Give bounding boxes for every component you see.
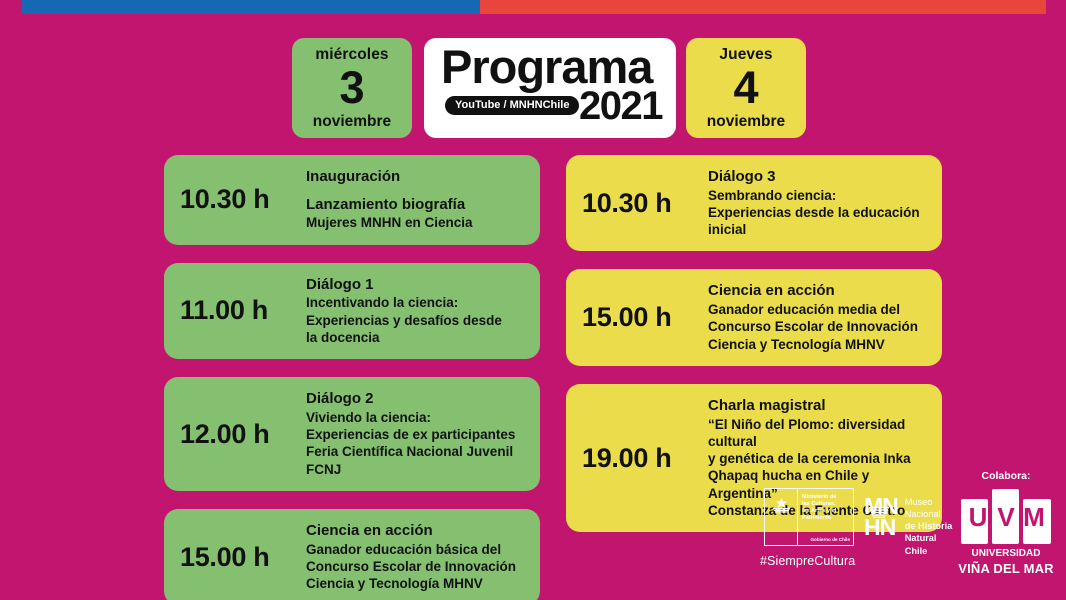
ministry-of-cultures-logo: Ministerio de las Culturas, las Artes y … [764, 488, 854, 546]
schedule-card: 11.00 hDiálogo 1Incentivando la ciencia:… [164, 263, 540, 359]
ministry-line-2: las Culturas, [802, 501, 850, 508]
schedule-card-time: 15.00 h [180, 544, 306, 571]
schedule-card-body: Ciencia en acciónGanador educación básic… [306, 522, 526, 592]
government-of-chile-label: Gobierno de Chile [810, 537, 850, 542]
mnhn-monogram-line-2: HN [864, 517, 898, 538]
mnhn-monogram: MN HN [864, 496, 898, 538]
uvm-block-3 [1023, 499, 1051, 544]
title-year: 2021 [579, 86, 662, 126]
uvm-block-1 [961, 499, 988, 544]
uvm-name-line-2: VIÑA DEL MAR [956, 561, 1056, 577]
schedule-card-time: 15.00 h [582, 304, 708, 331]
schedule-card-body: Ciencia en acciónGanador educación media… [708, 282, 928, 352]
schedule-card-line: Viviendo la ciencia: [306, 409, 526, 426]
schedule-card-body: Diálogo 2Viviendo la ciencia:Experiencia… [306, 390, 526, 478]
schedule-card-heading: Ciencia en acción [306, 522, 526, 540]
schedule-card-line: la docencia [306, 329, 526, 346]
mnhn-word-2: Nacional [905, 508, 952, 520]
footer-logos: Ministerio de las Culturas, las Artes y … [756, 470, 1056, 585]
schedule-card-line: Ciencia y Tecnología MHNV [708, 336, 928, 353]
schedule-card-line: Mujeres MNHN en Ciencia [306, 214, 526, 231]
ministry-line-4: Patrimonio [802, 515, 850, 522]
schedule-card-time: 10.30 h [582, 190, 708, 217]
schedule-card-time: 10.30 h [180, 186, 306, 213]
uvm-university-name: UNIVERSIDAD VIÑA DEL MAR [956, 548, 1056, 577]
schedule-card: 15.00 hCiencia en acciónGanador educació… [566, 269, 942, 365]
schedule-card-line: Sembrando ciencia: [708, 187, 928, 204]
schedule-card-heading: Diálogo 2 [306, 390, 526, 408]
schedule-card: 15.00 hCiencia en acciónGanador educació… [164, 509, 540, 600]
mnhn-word-1: Museo [905, 496, 952, 508]
page-title: Programa [441, 43, 652, 90]
hashtag-siemprecultura: #SiempreCultura [760, 554, 855, 568]
schedule-card-body: Diálogo 3Sembrando ciencia:Experiencias … [708, 168, 928, 238]
schedule-card-line: Ganador educación básica del [306, 541, 526, 558]
schedule-card-line: Concurso Escolar de Innovación [708, 318, 928, 335]
schedule-card-heading: Diálogo 3 [708, 168, 928, 186]
schedule-card-heading-secondary: Lanzamiento biografía [306, 196, 526, 214]
date-card-day1: miércoles 3 noviembre [292, 38, 412, 138]
schedule-card-body: InauguraciónLanzamiento biografíaMujeres… [306, 168, 526, 232]
schedule-card-line: y genética de la ceremonia Inka [708, 450, 928, 467]
youtube-channel-badge[interactable]: YouTube / MNHNChile [445, 96, 579, 115]
date-day2-month: noviembre [707, 114, 785, 130]
schedule-card-line: Incentivando la ciencia: [306, 294, 526, 311]
schedule-column-day1: 10.30 hInauguraciónLanzamiento biografía… [164, 155, 540, 600]
uvm-collaborator-logo: Colabora: U V M UNIVERSIDAD VIÑA DEL MAR [956, 470, 1056, 577]
mnhn-word-3: de Historia [905, 520, 952, 532]
schedule-card-line: Experiencias desde la educación inicial [708, 204, 928, 239]
date-card-day2: Jueves 4 noviembre [686, 38, 806, 138]
schedule-card-line: “El Niño del Plomo: diversidad cultural [708, 416, 928, 451]
schedule-card-line: Ciencia y Tecnología MHNV [306, 575, 526, 592]
mnhn-museum-logo: MN HN Museo Nacional de Historia Natural… [864, 496, 952, 557]
ministry-line-3: las Artes y el [802, 508, 850, 515]
poster-root: miércoles 3 noviembre Programa 2021 YouT… [0, 0, 1066, 600]
date-day1-weekday: miércoles [315, 47, 388, 63]
schedule-card-line: Ganador educación media del [708, 301, 928, 318]
mnhn-building-icon [869, 507, 889, 519]
coat-of-arms-glyph [770, 497, 793, 514]
schedule-card-heading: Diálogo 1 [306, 276, 526, 294]
title-card: Programa 2021 YouTube / MNHNChile [424, 38, 676, 138]
schedule-card-line: Concurso Escolar de Innovación [306, 558, 526, 575]
collaborator-label: Colabora: [956, 470, 1056, 482]
schedule-card-time: 12.00 h [180, 421, 306, 448]
uvm-name-line-1: UNIVERSIDAD [956, 548, 1056, 561]
chile-coat-of-arms-icon [765, 489, 798, 545]
schedule-card-heading: Inauguración [306, 168, 526, 186]
mnhn-word-4: Natural [905, 532, 952, 544]
mnhn-word-5: Chile [905, 545, 952, 557]
date-day2-weekday: Jueves [719, 47, 772, 63]
schedule-card-line: Experiencias y desafíos desde [306, 312, 526, 329]
schedule-card: 12.00 hDiálogo 2Viviendo la ciencia:Expe… [164, 377, 540, 491]
flag-bar [0, 0, 1066, 14]
schedule-card-line: Feria Científica Nacional Juvenil FCNJ [306, 443, 526, 478]
uvm-logo-mark: U V M [961, 489, 1051, 544]
schedule-card-line: Experiencias de ex participantes [306, 426, 526, 443]
schedule-card: 10.30 hInauguraciónLanzamiento biografía… [164, 155, 540, 245]
ministry-logo-text: Ministerio de las Culturas, las Artes y … [798, 489, 853, 545]
flag-bar-red-segment [480, 0, 1046, 14]
schedule-card-time: 11.00 h [180, 297, 306, 324]
schedule-card-body: Diálogo 1Incentivando la ciencia:Experie… [306, 276, 526, 346]
schedule-card-heading: Ciencia en acción [708, 282, 928, 300]
date-day2-number: 4 [733, 65, 758, 110]
uvm-block-2 [992, 489, 1019, 544]
flag-bar-blue-segment [22, 0, 480, 14]
schedule-card: 10.30 hDiálogo 3Sembrando ciencia:Experi… [566, 155, 942, 251]
schedule-card-time: 19.00 h [582, 445, 708, 472]
date-day1-month: noviembre [313, 114, 391, 130]
mnhn-wordmark: Museo Nacional de Historia Natural Chile [905, 496, 952, 557]
date-day1-number: 3 [339, 65, 364, 110]
ministry-line-1: Ministerio de [802, 494, 850, 501]
schedule-card-heading: Charla magistral [708, 397, 928, 415]
header: miércoles 3 noviembre Programa 2021 YouT… [0, 38, 1066, 138]
